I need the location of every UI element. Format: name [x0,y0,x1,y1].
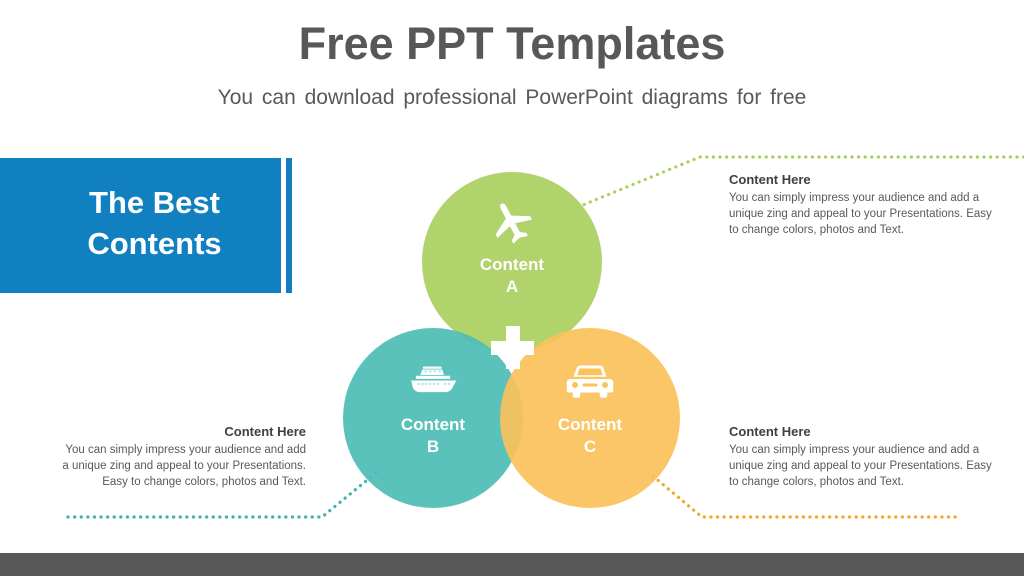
content-block-bottom-left: Content Here You can simply impress your… [62,424,306,491]
content-block-top-right: Content Here You can simply impress your… [729,172,999,239]
venn-label-content-a: Content A [480,254,544,298]
venn-label-a-line2: A [506,277,518,296]
venn-label-c-line1: Content [558,415,622,434]
venn-label-a-line1: Content [480,255,544,274]
content-heading-top-right: Content Here [729,172,999,187]
footer-bar [0,553,1024,576]
content-heading-bottom-left: Content Here [62,424,306,439]
plus-icon [491,326,534,369]
car-icon [566,358,614,406]
cruise-ship-icon [405,358,461,406]
venn-label-content-c: Content C [558,414,622,458]
content-body-bottom-right: You can simply impress your audience and… [729,443,999,491]
airplane-icon [486,198,538,246]
content-body-top-right: You can simply impress your audience and… [729,191,999,239]
content-body-bottom-left: You can simply impress your audience and… [62,443,306,491]
venn-label-content-b: Content B [401,414,465,458]
venn-label-b-line1: Content [401,415,465,434]
slide-canvas: Free PPT Templates You can download prof… [0,0,1024,576]
venn-circle-content-a[interactable]: Content A [422,172,602,352]
venn-label-b-line2: B [427,437,439,456]
content-block-bottom-right: Content Here You can simply impress your… [729,424,999,491]
content-heading-bottom-right: Content Here [729,424,999,439]
venn-label-c-line2: C [584,437,596,456]
